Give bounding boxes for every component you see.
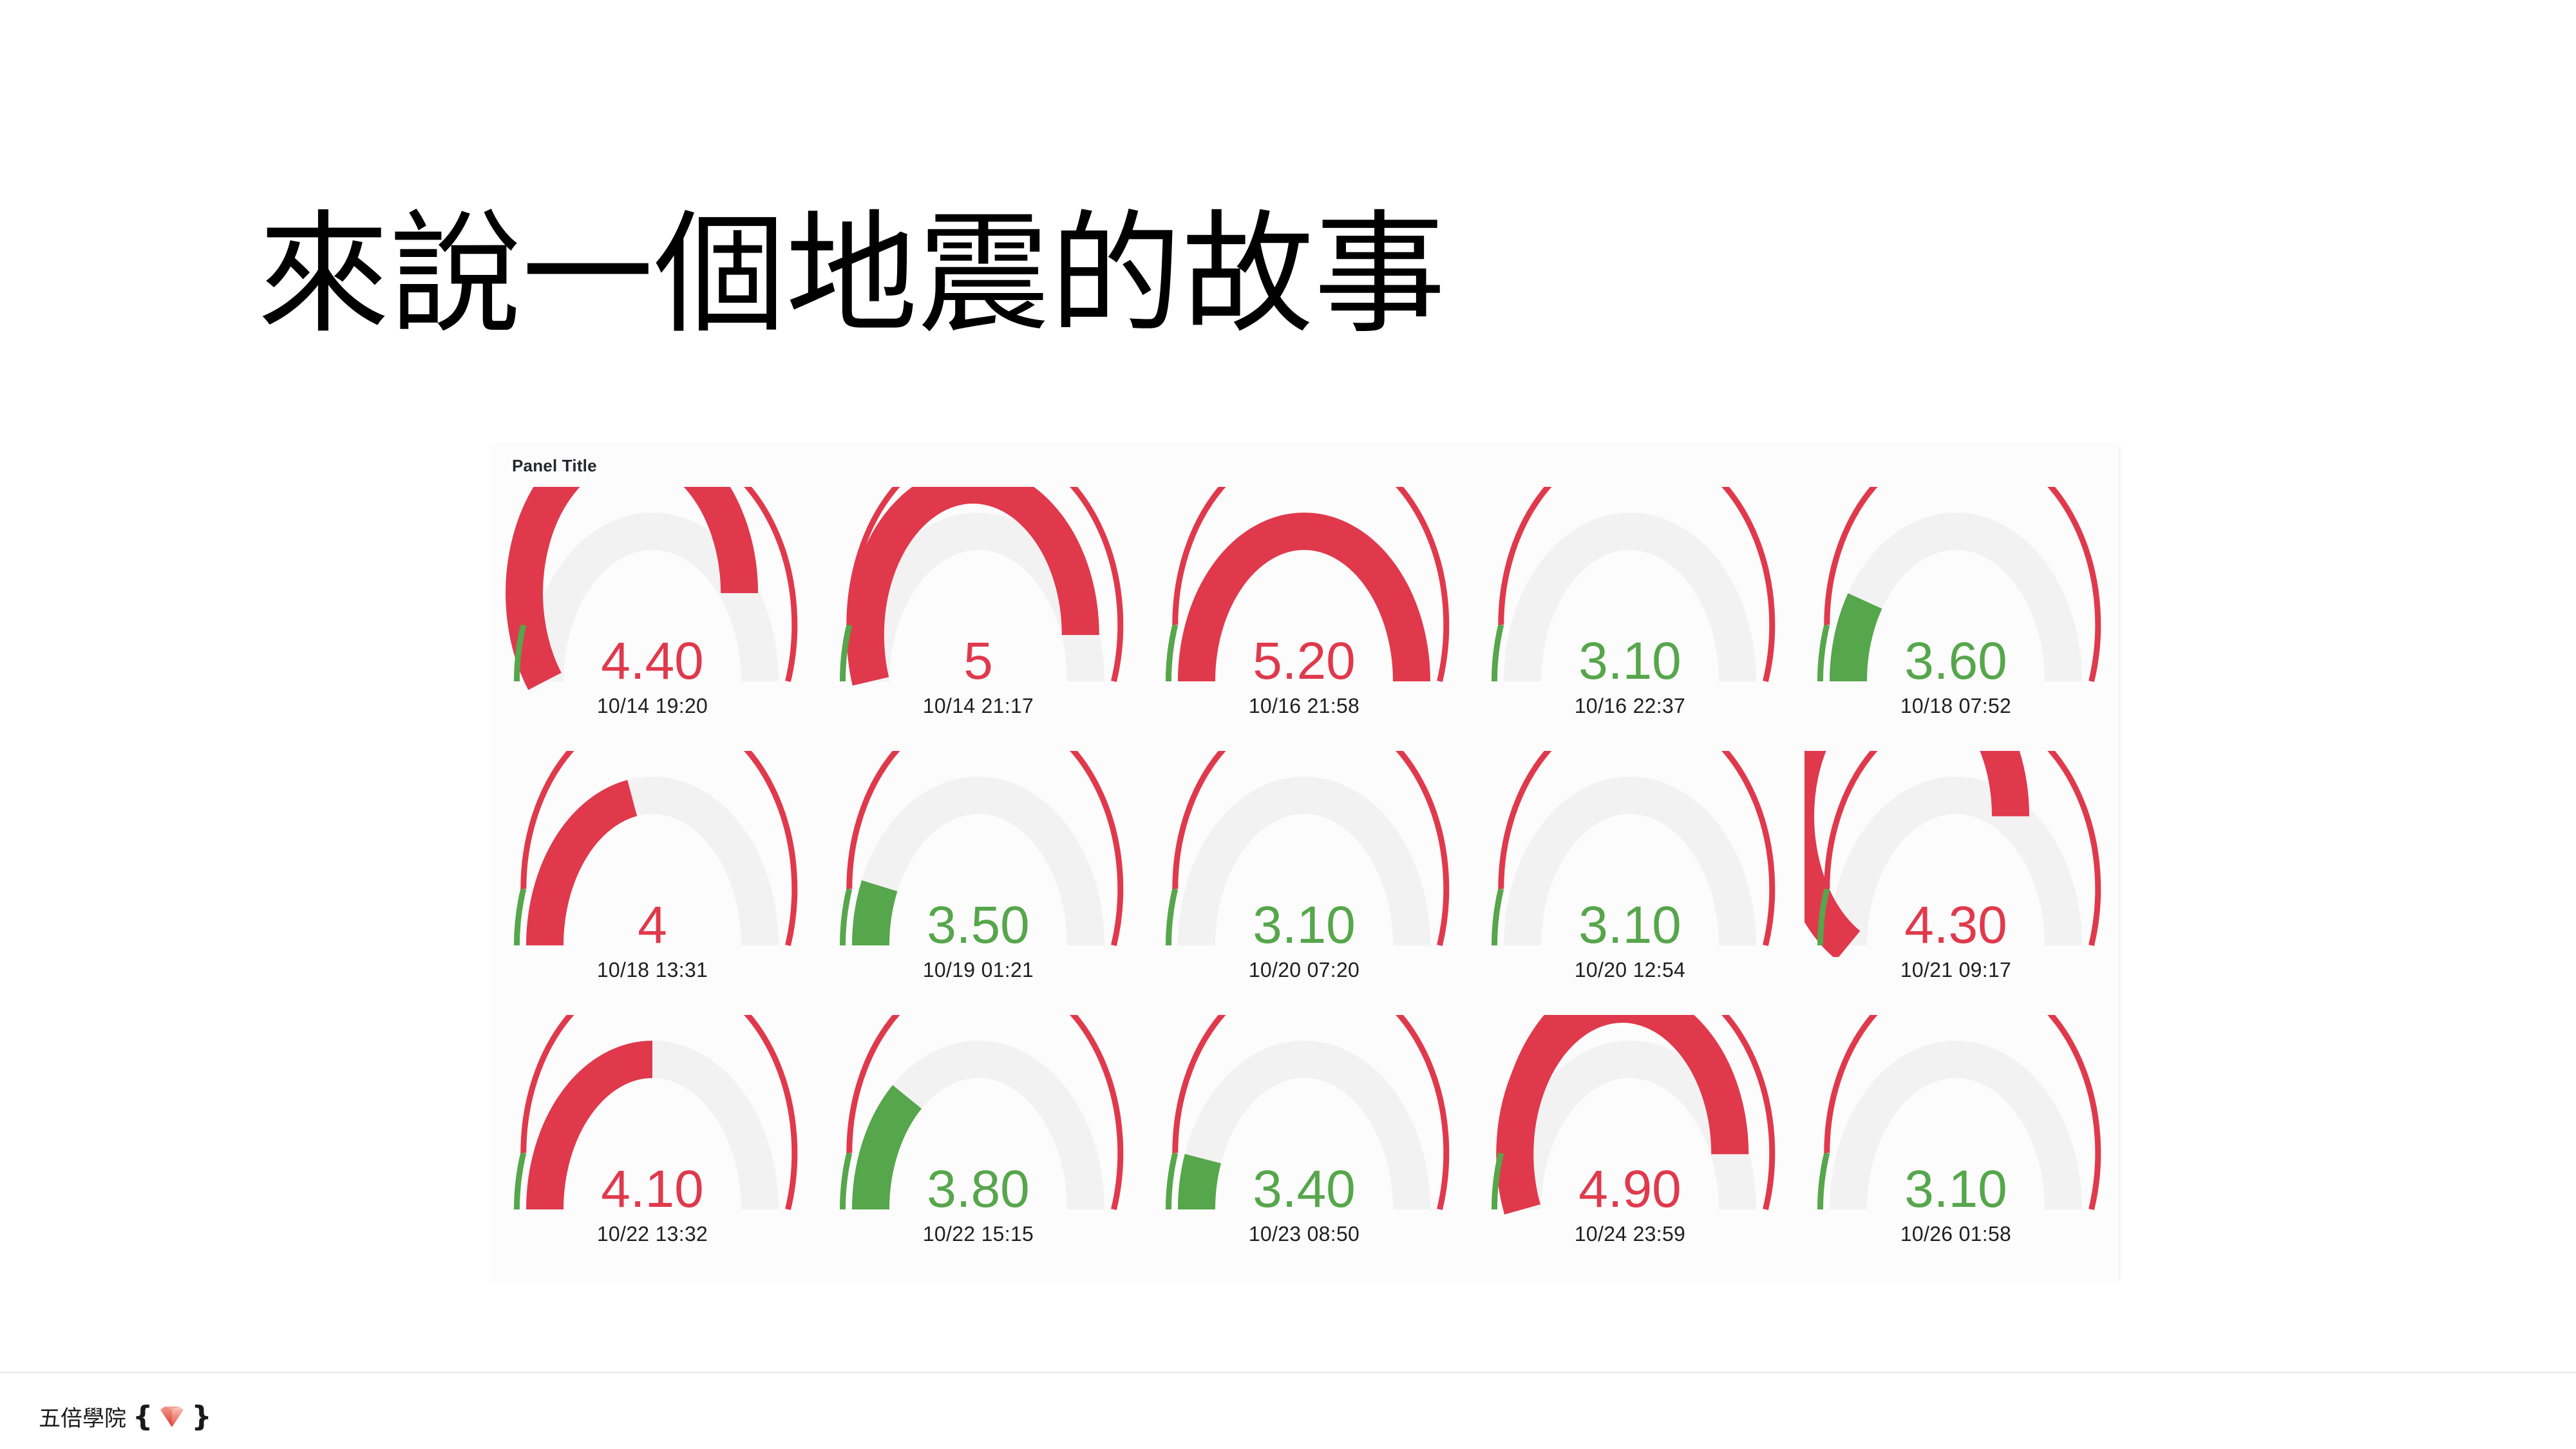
gauge-cell[interactable]: 3.1010/16 22:37 (1467, 484, 1793, 748)
gauge-dial[interactable]: 3.10 (1479, 751, 1781, 957)
gauge-label: 10/20 07:20 (1249, 958, 1359, 982)
gauge-value: 3.60 (1804, 635, 2107, 688)
gauge-dial[interactable]: 3.80 (827, 1015, 1130, 1221)
gauge-value: 4.40 (501, 635, 804, 688)
gauge-cell[interactable]: 3.1010/20 07:20 (1141, 748, 1467, 1012)
gauge-label: 10/23 08:50 (1249, 1222, 1359, 1246)
gauge-dial[interactable]: 4 (501, 751, 804, 957)
gauge-value: 4.90 (1479, 1163, 1781, 1216)
brace-open: { (133, 1403, 153, 1431)
gauge-dial[interactable]: 3.10 (1153, 751, 1455, 957)
gauge-dial[interactable]: 5 (827, 487, 1130, 693)
gauge-cell[interactable]: 3.6010/18 07:52 (1793, 484, 2119, 748)
page-title: 來說一個地震的故事 (258, 206, 1446, 345)
gauge-dial[interactable]: 3.10 (1479, 487, 1781, 693)
gauge-dial[interactable]: 4.30 (1804, 751, 2107, 957)
grafana-panel: Panel Title 4.4010/14 19:20510/14 21:175… (489, 444, 2119, 1282)
gauge-cell[interactable]: 3.8010/22 15:15 (815, 1012, 1141, 1276)
gauge-value: 4.10 (501, 1163, 804, 1216)
gauge-value: 3.10 (1479, 635, 1781, 688)
gauge-dial[interactable]: 4.40 (501, 487, 804, 693)
gauge-cell[interactable]: 4.4010/14 19:20 (489, 484, 815, 748)
gauge-dial[interactable]: 3.40 (1153, 1015, 1455, 1221)
gauge-dial[interactable]: 3.50 (827, 751, 1130, 957)
gauge-cell[interactable]: 4.3010/21 09:17 (1793, 748, 2119, 1012)
footer-divider (0, 1372, 2576, 1373)
footer-brand: 五倍學院 { } (39, 1401, 212, 1432)
gauge-label: 10/19 01:21 (923, 958, 1034, 982)
gauge-label: 10/20 12:54 (1575, 958, 1685, 982)
gauge-dial[interactable]: 4.10 (501, 1015, 804, 1221)
gauge-label: 10/14 19:20 (597, 694, 708, 718)
ruby-gem-icon (159, 1405, 185, 1428)
gauge-label: 10/21 09:17 (1900, 958, 2011, 982)
brace-close: } (191, 1403, 211, 1431)
gauge-label: 10/22 15:15 (923, 1222, 1034, 1246)
footer-brand-text: 五倍學院 (39, 1401, 126, 1432)
gauge-cell[interactable]: 5.2010/16 21:58 (1141, 484, 1467, 748)
gauge-value: 3.40 (1153, 1163, 1455, 1216)
gauge-cell[interactable]: 3.1010/26 01:58 (1793, 1012, 2119, 1276)
gauge-label: 10/16 21:58 (1249, 694, 1359, 718)
gauge-value: 3.10 (1153, 899, 1455, 952)
gauge-label: 10/18 07:52 (1900, 694, 2011, 718)
gauge-grid: 4.4010/14 19:20510/14 21:175.2010/16 21:… (489, 484, 2119, 1276)
gauge-value: 5.20 (1153, 635, 1455, 688)
gauge-label: 10/26 01:58 (1900, 1222, 2011, 1246)
gauge-value: 4 (501, 899, 804, 952)
panel-title: Panel Title (512, 456, 597, 476)
gauge-cell[interactable]: 510/14 21:17 (815, 484, 1141, 748)
gauge-value: 3.50 (827, 899, 1130, 952)
gauge-cell[interactable]: 410/18 13:31 (489, 748, 815, 1012)
gauge-cell[interactable]: 3.1010/20 12:54 (1467, 748, 1793, 1012)
gauge-cell[interactable]: 4.1010/22 13:32 (489, 1012, 815, 1276)
gauge-label: 10/24 23:59 (1575, 1222, 1685, 1246)
gauge-value: 3.80 (827, 1163, 1130, 1216)
gauge-label: 10/14 21:17 (923, 694, 1034, 718)
gauge-dial[interactable]: 5.20 (1153, 487, 1455, 693)
gauge-value: 3.10 (1804, 1163, 2107, 1216)
gauge-dial[interactable]: 3.60 (1804, 487, 2107, 693)
gauge-cell[interactable]: 3.5010/19 01:21 (815, 748, 1141, 1012)
gauge-label: 10/22 13:32 (597, 1222, 708, 1246)
gauge-cell[interactable]: 3.4010/23 08:50 (1141, 1012, 1467, 1276)
gauge-value: 3.10 (1479, 899, 1781, 952)
gauge-cell[interactable]: 4.9010/24 23:59 (1467, 1012, 1793, 1276)
gauge-dial[interactable]: 3.10 (1804, 1015, 2107, 1221)
gauge-value: 4.30 (1804, 899, 2107, 952)
gauge-value: 5 (827, 635, 1130, 688)
gauge-label: 10/16 22:37 (1575, 694, 1685, 718)
gauge-label: 10/18 13:31 (597, 958, 708, 982)
gauge-dial[interactable]: 4.90 (1479, 1015, 1781, 1221)
